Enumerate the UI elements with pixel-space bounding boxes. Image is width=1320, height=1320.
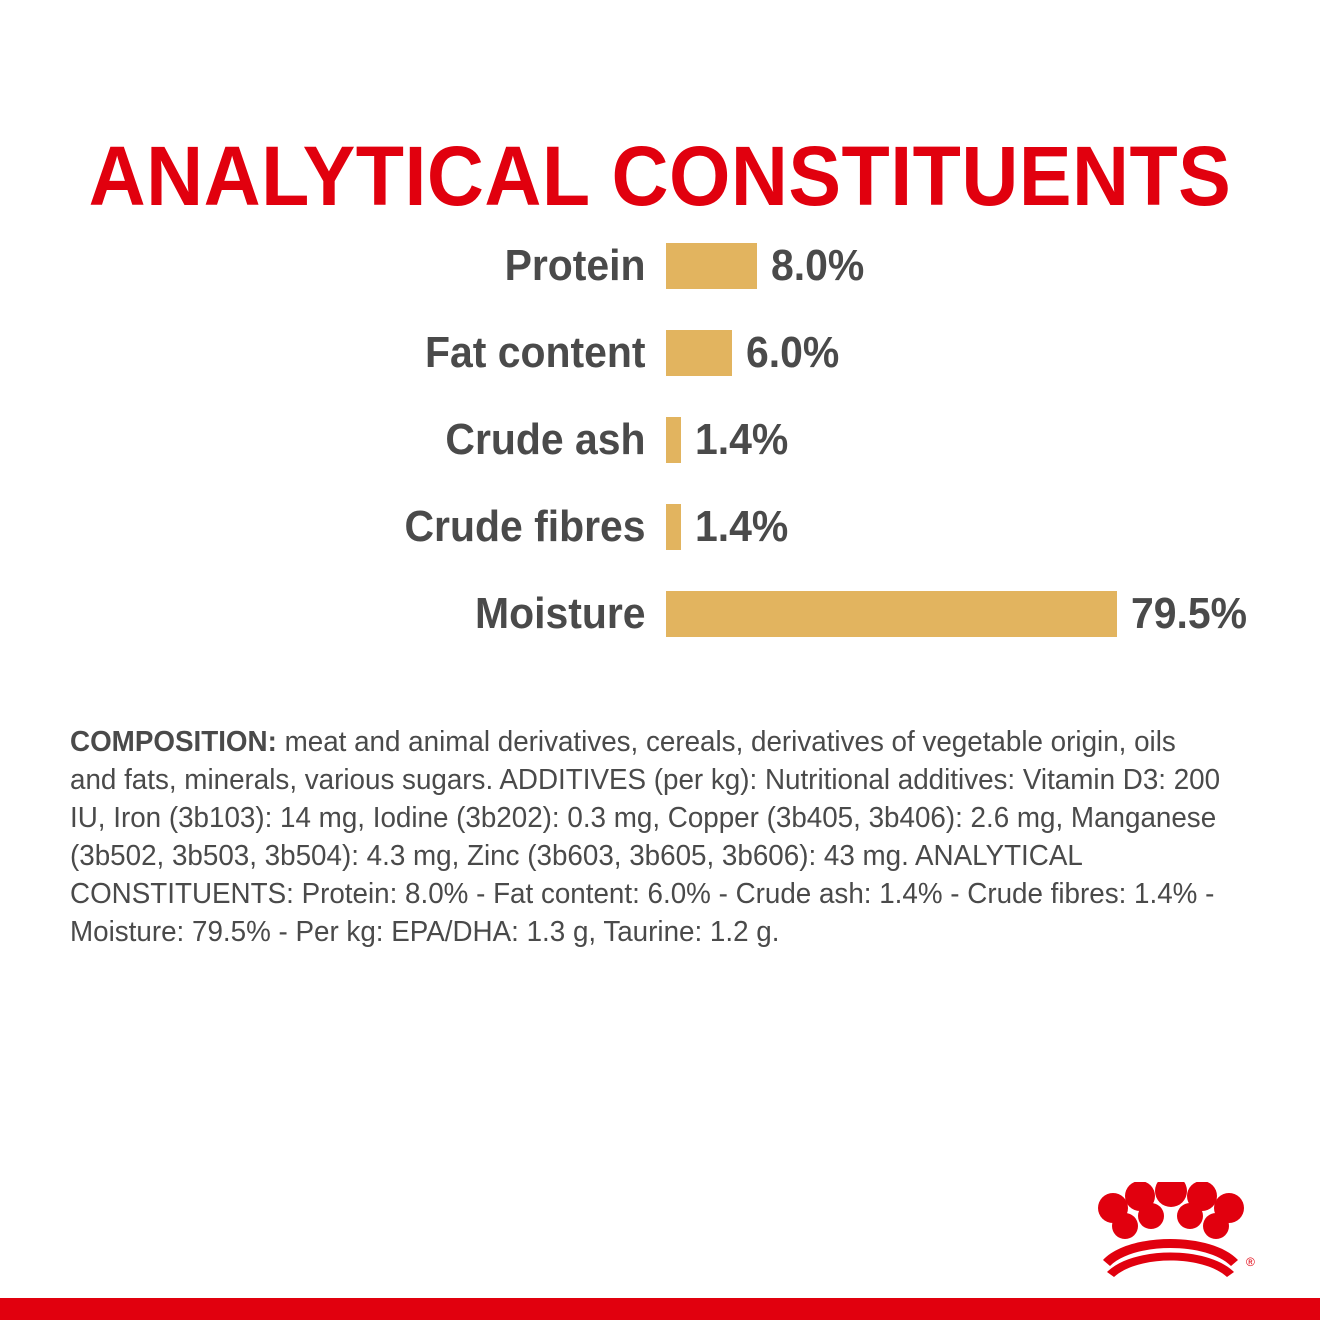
bar-track-protein: 8.0% bbox=[666, 243, 871, 289]
bar-label-fat-content: Fat content bbox=[47, 331, 666, 375]
bar-label-protein: Protein bbox=[47, 244, 666, 288]
bar-value-crude-fibres: 1.4% bbox=[695, 505, 788, 549]
bar-row: Crude ash 1.4% bbox=[0, 396, 1320, 483]
bar-track-crude-fibres: 1.4% bbox=[666, 504, 795, 550]
bar-fill-crude-fibres bbox=[666, 504, 681, 550]
bar-track-crude-ash: 1.4% bbox=[666, 417, 795, 463]
registered-trademark-mark: ® bbox=[1246, 1255, 1255, 1269]
analytical-constituents-page: ANALYTICAL CONSTITUENTS Protein 8.0% Fat… bbox=[0, 0, 1320, 1320]
bar-row: Fat content 6.0% bbox=[0, 309, 1320, 396]
bar-row: Protein 8.0% bbox=[0, 222, 1320, 309]
royal-canin-crown-logo: ® bbox=[1083, 1182, 1258, 1282]
bar-fill-fat-content bbox=[666, 330, 732, 376]
bar-label-moisture: Moisture bbox=[47, 592, 666, 636]
composition-paragraph: COMPOSITION: meat and animal derivatives… bbox=[70, 723, 1222, 951]
bar-fill-crude-ash bbox=[666, 417, 681, 463]
bar-fill-moisture bbox=[666, 591, 1117, 637]
bar-fill-protein bbox=[666, 243, 757, 289]
bar-label-crude-fibres: Crude fibres bbox=[47, 505, 666, 549]
bar-row: Crude fibres 1.4% bbox=[0, 483, 1320, 570]
bar-value-crude-ash: 1.4% bbox=[695, 418, 788, 462]
analytical-constituents-bar-chart: Protein 8.0% Fat content 6.0% Crude ash … bbox=[0, 222, 1320, 657]
bar-row: Moisture 79.5% bbox=[0, 570, 1320, 657]
bar-value-fat-content: 6.0% bbox=[746, 331, 839, 375]
bar-track-moisture: 79.5% bbox=[666, 591, 1256, 637]
bar-value-protein: 8.0% bbox=[771, 244, 864, 288]
bar-track-fat-content: 6.0% bbox=[666, 330, 846, 376]
bar-label-crude-ash: Crude ash bbox=[47, 418, 666, 462]
bar-value-moisture: 79.5% bbox=[1131, 592, 1247, 636]
bottom-red-bar bbox=[0, 1298, 1320, 1320]
composition-heading: COMPOSITION: bbox=[70, 726, 277, 758]
page-title: ANALYTICAL CONSTITUENTS bbox=[40, 134, 1281, 218]
composition-body: meat and animal derivatives, cereals, de… bbox=[70, 726, 1220, 948]
